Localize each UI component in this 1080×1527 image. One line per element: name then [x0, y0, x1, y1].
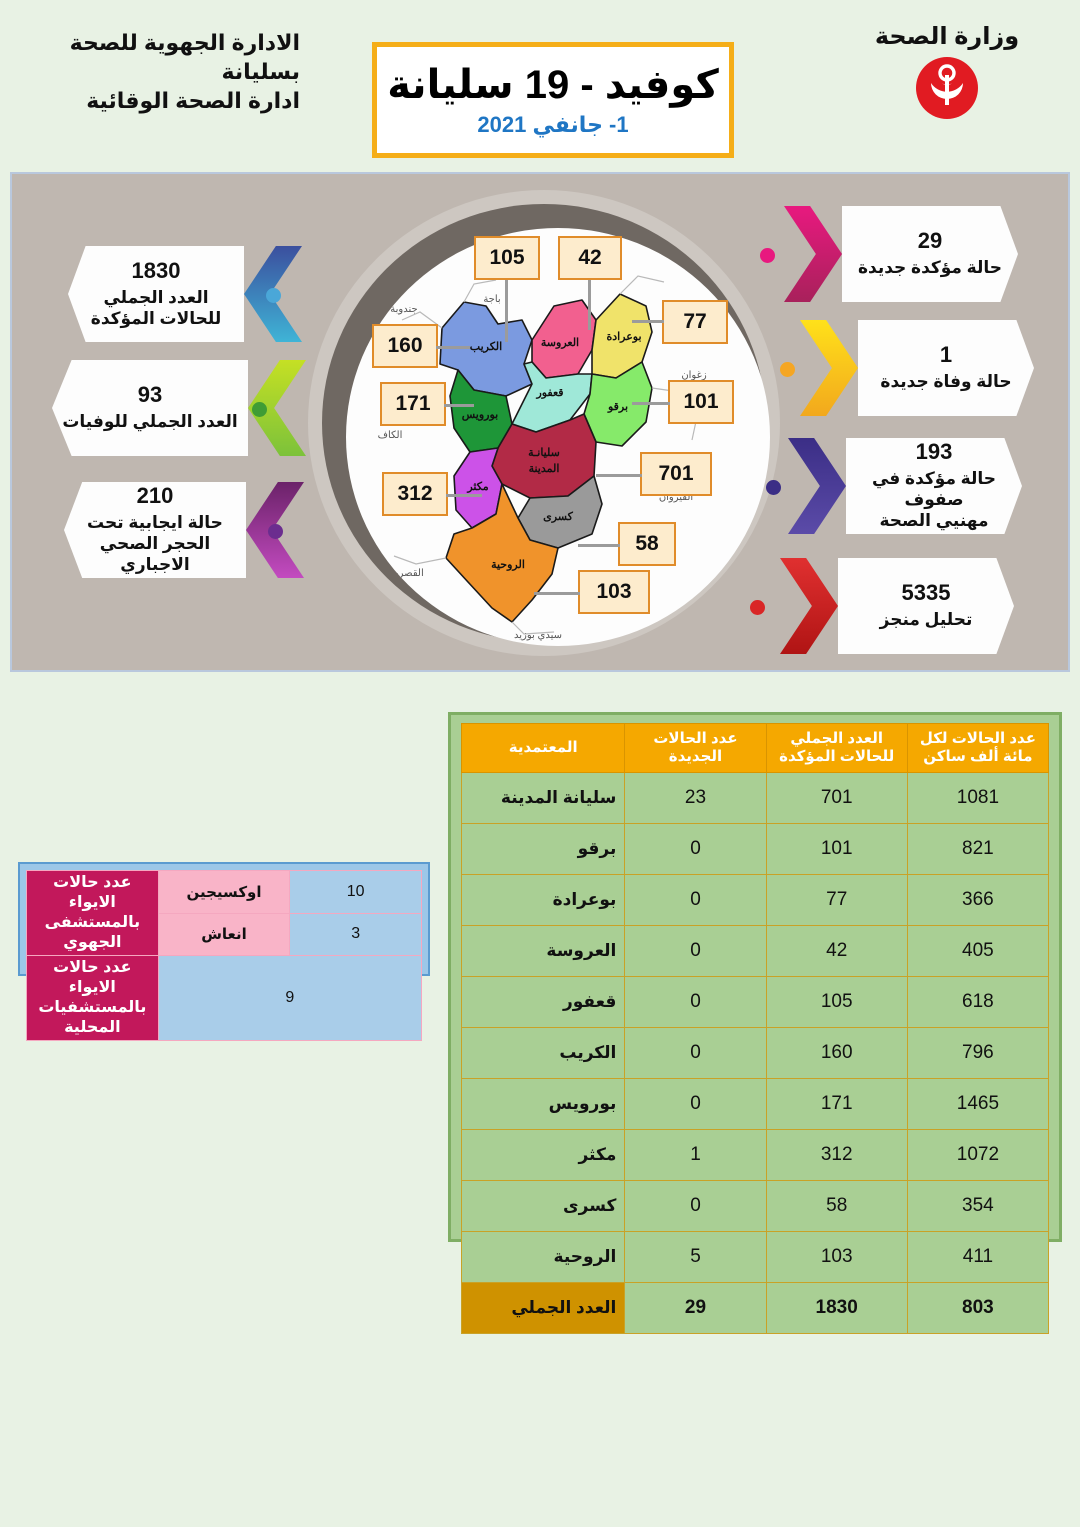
cell-new: 0	[625, 926, 766, 977]
cell-total: 58	[766, 1181, 907, 1232]
stat-label: العدد الجمليللحالات المؤكدة	[91, 288, 221, 329]
map-callout-bargou: 101	[668, 380, 734, 424]
beds-sublabel-icu: انعاش	[158, 913, 290, 956]
leader-line-kesra	[578, 544, 620, 547]
column-header-total-cases: العدد الجمليللحالات المؤكدة	[766, 724, 907, 773]
map-callout-makthar: 312	[382, 472, 448, 516]
svg-text:بورويس: بورويس	[462, 409, 498, 421]
cell-new: 0	[625, 824, 766, 875]
stat-value: 193	[916, 440, 953, 464]
cell-name: قعفور	[462, 977, 625, 1028]
svg-text:الكاف: الكاف	[378, 430, 403, 441]
leader-line-bargou	[632, 402, 670, 405]
cell-name: الكريب	[462, 1028, 625, 1079]
cell-rate: 796	[907, 1028, 1048, 1079]
cell-name: العروسة	[462, 926, 625, 977]
page-header: وزارة الصحة الادارة الجهوية للصحة بسليان…	[0, 0, 1080, 170]
svg-text:سليانـة: سليانـة	[528, 447, 560, 459]
stat-value: 5335	[902, 581, 951, 605]
stat-value: 1830	[132, 259, 181, 283]
map-callout-aroussa: 42	[558, 236, 622, 280]
map-callout-rouhia: 103	[578, 570, 650, 614]
hospital-beds-table: 10 اوكسيجين عدد حالات الايواءبالمستشفى ا…	[26, 870, 422, 1041]
column-header-new-cases: عدد الحالاتالجديدة	[625, 724, 766, 773]
table-header-row: عدد الحالات لكلمائة ألف ساكن العدد الجمل…	[462, 724, 1049, 773]
cell-rate: 366	[907, 875, 1048, 926]
cell-name: بورويس	[462, 1079, 625, 1130]
svg-text:باجة: باجة	[483, 294, 500, 305]
cell-rate: 354	[907, 1181, 1048, 1232]
table-row: 354580كسرى	[462, 1181, 1049, 1232]
table-row: 366770بوعرادة	[462, 875, 1049, 926]
ministry-label: وزارة الصحة	[832, 22, 1062, 51]
regional-health-directorate-block: الادارة الجهوية للصحة بسليانة ادارة الصح…	[20, 28, 300, 115]
cell-total: 105	[766, 977, 907, 1028]
page-title: كوفيد - 19 سليانة	[387, 62, 718, 108]
map-callout-gaafour: 105	[474, 236, 540, 280]
chevron-shape	[784, 206, 842, 302]
svg-text:مكثر: مكثر	[466, 481, 488, 493]
cell-new: 0	[625, 875, 766, 926]
stat-label: العدد الجملي للوفيات	[62, 412, 237, 433]
cell-new: 23	[625, 773, 766, 824]
map-callout-krib: 160	[372, 324, 438, 368]
beds-value-oxygen: 10	[290, 871, 422, 914]
stat-new-deaths: 1 حالة وفاة جديدة	[800, 320, 1034, 416]
leader-line-rouhia	[534, 592, 580, 595]
svg-text:قعفور: قعفور	[535, 387, 563, 399]
map-callout-kesra: 58	[618, 522, 676, 566]
leader-line-krib	[436, 346, 470, 349]
table-row: 8211010برقو	[462, 824, 1049, 875]
column-header-rate: عدد الحالات لكلمائة ألف ساكن	[907, 724, 1048, 773]
cell-name: سليانة المدينة	[462, 773, 625, 824]
table-row: 405420العروسة	[462, 926, 1049, 977]
cell-total: 103	[766, 1232, 907, 1283]
stat-new-confirmed: 29 حالة مؤكدة جديدة	[784, 206, 1018, 302]
cell-new: 0	[625, 1028, 766, 1079]
delegations-table-frame: عدد الحالات لكلمائة ألف ساكن العدد الجمل…	[448, 712, 1062, 1242]
beds-sublabel-oxygen: اوكسيجين	[158, 871, 290, 914]
svg-text:الروحية: الروحية	[491, 559, 525, 571]
cell-total: 101	[766, 824, 907, 875]
connector-dot-blue	[266, 288, 281, 303]
stat-label: حالة مؤكدة جديدة	[858, 258, 1002, 279]
table-row: 7961600الكريب	[462, 1028, 1049, 1079]
beds-title-regional: عدد حالات الايواءبالمستشفى الجهوي	[27, 871, 159, 956]
cell-rate: 1081	[907, 773, 1048, 824]
stat-value: 1	[940, 343, 952, 367]
cell-new: 5	[625, 1232, 766, 1283]
stat-value: 29	[918, 229, 942, 253]
ministry-block: وزارة الصحة	[832, 22, 1062, 119]
svg-text:برقو: برقو	[607, 401, 628, 413]
cell-total: 701	[766, 773, 907, 824]
beds-row-regional-oxygen: 10 اوكسيجين عدد حالات الايواءبالمستشفى ا…	[27, 871, 422, 914]
stat-value: 210	[137, 484, 174, 508]
chevron-shape	[800, 320, 858, 416]
cell-new: 0	[625, 1181, 766, 1232]
svg-text:الكريب: الكريب	[470, 341, 502, 353]
connector-dot-red	[750, 600, 765, 615]
map-callout-bourouis: 171	[380, 382, 446, 426]
cell-total: 171	[766, 1079, 907, 1130]
stat-value: 93	[138, 383, 162, 407]
delegations-table: عدد الحالات لكلمائة ألف ساكن العدد الجمل…	[461, 723, 1049, 1334]
cell-new: 29	[625, 1283, 766, 1334]
connector-dot-indigo	[766, 480, 781, 495]
leader-line-makthar	[446, 494, 482, 497]
page-title-box: كوفيد - 19 سليانة 1- جانفي 2021	[372, 42, 734, 158]
stat-health-workers: 193 حالة مؤكدة في صفوفمهنيي الصحة	[788, 438, 1022, 534]
connector-dot-orange	[780, 362, 795, 377]
cell-rate: 1072	[907, 1130, 1048, 1181]
connector-dot-pink	[760, 248, 775, 263]
cell-rate: 803	[907, 1283, 1048, 1334]
org-line-1: الادارة الجهوية للصحة	[20, 28, 300, 57]
map-callout-siliana-ville: 701	[640, 452, 712, 496]
connector-dot-purple	[268, 524, 283, 539]
cell-rate: 411	[907, 1232, 1048, 1283]
cell-rate: 405	[907, 926, 1048, 977]
cell-name: بوعرادة	[462, 875, 625, 926]
stat-label: حالة وفاة جديدة	[880, 372, 1011, 393]
org-line-2: بسليانة	[20, 57, 300, 86]
leader-line-gaafour	[505, 280, 508, 342]
report-date: 1- جانفي 2021	[477, 112, 628, 138]
table-row: 4111035الروحية	[462, 1232, 1049, 1283]
cell-new: 0	[625, 1079, 766, 1130]
stat-tests-performed: 5335 تحليل منجز	[780, 558, 1014, 654]
beds-row-local: 9 عدد حالات الايواءبالمستشفيات المحلية	[27, 956, 422, 1041]
cell-rate: 821	[907, 824, 1048, 875]
hospital-beds-panel: 10 اوكسيجين عدد حالات الايواءبالمستشفى ا…	[18, 862, 430, 976]
chevron-shape	[788, 438, 846, 534]
table-row: 803183029العدد الجملي	[462, 1283, 1049, 1334]
cell-name: العدد الجملي	[462, 1283, 625, 1334]
main-infographic-panel: الكريب العروسة بوعرادة قعفور بورويس برقو…	[10, 172, 1070, 672]
chevron-shape	[780, 558, 838, 654]
beds-value-icu: 3	[290, 913, 422, 956]
svg-text:القصرين: القصرين	[388, 568, 423, 579]
table-row: 14651710بورويس	[462, 1079, 1049, 1130]
table-row: 10723121مكثر	[462, 1130, 1049, 1181]
map-callout-bouarada: 77	[662, 300, 728, 344]
leader-line-bouarada	[632, 320, 664, 323]
cell-total: 77	[766, 875, 907, 926]
stat-label: تحليل منجز	[880, 610, 973, 631]
health-ministry-asclepius-icon	[916, 57, 978, 119]
cell-name: الروحية	[462, 1232, 625, 1283]
svg-text:العروسة: العروسة	[541, 337, 579, 349]
table-row: 6181050قعفور	[462, 977, 1049, 1028]
cell-rate: 618	[907, 977, 1048, 1028]
table-row: 108170123سليانة المدينة	[462, 773, 1049, 824]
cell-name: كسرى	[462, 1181, 625, 1232]
cell-total: 1830	[766, 1283, 907, 1334]
cell-rate: 1465	[907, 1079, 1048, 1130]
cell-name: برقو	[462, 824, 625, 875]
svg-text:بوعرادة: بوعرادة	[606, 331, 641, 343]
governorate-map: الكريب العروسة بوعرادة قعفور بورويس برقو…	[346, 228, 770, 646]
cell-total: 160	[766, 1028, 907, 1079]
svg-text:جندوبة: جندوبة	[390, 304, 417, 315]
cell-name: مكثر	[462, 1130, 625, 1181]
connector-dot-green	[252, 402, 267, 417]
beds-value-local: 9	[158, 956, 421, 1041]
svg-text:المدينة: المدينة	[529, 463, 560, 475]
cell-total: 42	[766, 926, 907, 977]
cell-new: 1	[625, 1130, 766, 1181]
stat-label: حالة ايجابية تحتالحجر الصحي الاجباري	[74, 513, 236, 575]
svg-text:سيدي بوزيد: سيدي بوزيد	[514, 630, 562, 641]
stat-label: حالة مؤكدة في صفوفمهنيي الصحة	[856, 469, 1012, 531]
stat-total-deaths: 93 العدد الجملي للوفيات	[52, 360, 306, 456]
cell-new: 0	[625, 977, 766, 1028]
column-header-delegation: المعتمدية	[462, 724, 625, 773]
org-line-3: ادارة الصحة الوقائية	[20, 86, 300, 115]
svg-text:كسرى: كسرى	[543, 511, 573, 523]
leader-line-aroussa	[588, 280, 591, 330]
cell-total: 312	[766, 1130, 907, 1181]
beds-title-local: عدد حالات الايواءبالمستشفيات المحلية	[27, 956, 159, 1041]
leader-line-bourouis	[444, 404, 474, 407]
leader-line-siliana-ville	[596, 474, 642, 477]
